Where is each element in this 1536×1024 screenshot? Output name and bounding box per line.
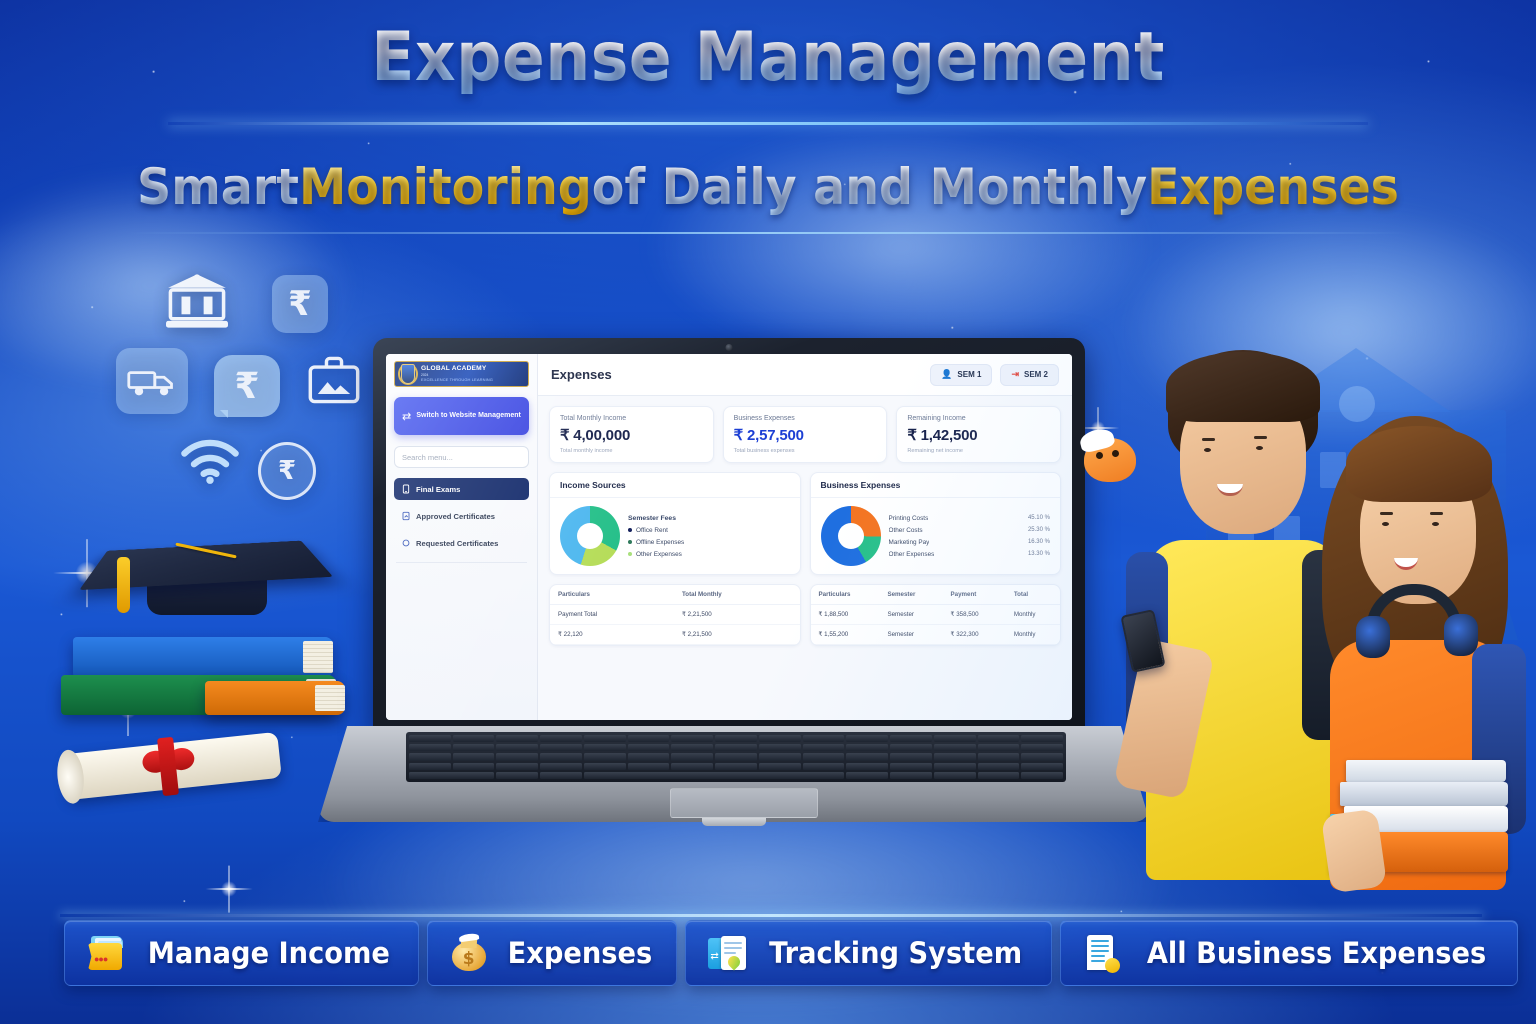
data-tables: Particulars Total Monthly Payment Total … [549,584,1061,646]
feature-bar: ●●● Manage Income $ Expenses ⇄ Tracking … [64,920,1478,986]
panel-income-sources: Income Sources Semester Fees Office Rent [549,472,801,575]
subtitle-part-2: Monitoring [299,158,592,216]
stat-note: Total business expenses [734,448,877,454]
table-cell: ₹ 322,300 [943,625,1006,645]
scroll-end [55,749,87,805]
legend-item: Offline Expenses [628,539,790,546]
search-input[interactable]: Search menu... [394,446,529,468]
income-table: Particulars Total Monthly Payment Total … [549,584,801,646]
laptop-screen: GLOBAL ACADEMY 2024 EXCELLENCE THROUGH L… [386,354,1072,720]
certificate-icon [401,512,410,521]
laptop-foot [702,818,766,826]
legend-item: Other Expenses 13.30 % [889,551,1051,558]
table-cell: ₹ 22,120 [550,625,674,645]
feature-label: Expenses [507,936,652,970]
legend-item: Marketing Pay 16.30 % [889,539,1051,546]
table-cell: ₹ 1,55,200 [811,625,880,645]
stat-label: Business Expenses [734,415,877,422]
chart-panels: Income Sources Semester Fees Office Rent [549,472,1061,575]
dashboard-sidebar: GLOBAL ACADEMY 2024 EXCELLENCE THROUGH L… [386,354,538,720]
stat-label: Total Monthly Income [560,415,703,422]
subtitle-divider [128,232,1408,234]
table-row[interactable]: ₹ 1,55,200 Semester ₹ 322,300 Monthly [811,625,1061,645]
table-cell: ₹ 2,21,500 [674,605,800,625]
feature-label: All Business Expenses [1146,936,1485,970]
laptop-lid: GLOBAL ACADEMY 2024 EXCELLENCE THROUGH L… [373,338,1085,733]
legend-label: Offline Expenses [636,539,684,546]
income-sources-legend: Semester Fees Office Rent Offline Expens… [628,515,790,558]
sidebar-item-requested-certificates[interactable]: Requested Certificates [394,532,529,554]
webcam-icon [726,344,733,351]
stat-card-business-expenses: Business Expenses ₹ 2,57,500 Total busin… [723,406,888,463]
dashboard-topbar: Expenses 👤 SEM 1 ⇥ SEM 2 [538,354,1072,396]
table-cell: ₹ 358,500 [943,605,1006,625]
table-header-cell: Particulars [811,585,880,605]
legend-heading: Semester Fees [628,515,790,522]
sidebar-item-label: Approved Certificates [416,512,495,521]
feature-all-business-expenses[interactable]: All Business Expenses [1060,920,1518,986]
user-icon: 👤 [941,370,952,379]
table-cell: ₹ 2,21,500 [674,625,800,645]
sem-2-chip[interactable]: ⇥ SEM 2 [1000,364,1059,386]
legend-item: Other Costs 25.30 % [889,527,1051,534]
sidebar-divider [396,562,527,563]
dashboard-content: Total Monthly Income ₹ 4,00,000 Total mo… [538,396,1072,656]
laptop-trackpad [670,788,818,818]
subtitle-part-1: Smart [137,158,299,216]
table-cell: Monthly [1006,605,1060,625]
panel-title: Business Expenses [811,473,1061,498]
table-header-row: Particulars Total Monthly [550,585,800,605]
bank-building-icon [160,270,234,332]
sidebar-item-label: Final Exams [416,485,460,494]
table-row[interactable]: ₹ 22,120 ₹ 2,21,500 [550,625,800,645]
title-divider [168,122,1368,125]
logo-tagline: EXCELLENCE THROUGH LEARNING [421,378,493,382]
table-header-cell: Particulars [550,585,674,605]
book-blue [73,637,333,677]
crest-icon [398,363,418,385]
search-placeholder: Search menu... [402,453,453,462]
table-header-cell: Total [1006,585,1060,605]
table-row[interactable]: ₹ 1,88,500 Semester ₹ 358,500 Monthly [811,605,1061,625]
legend-label: Printing Costs [889,515,929,522]
sem-1-label: SEM 1 [957,370,981,379]
subtitle-part-3: of Daily and Monthly [592,158,1147,216]
feature-manage-income[interactable]: ●●● Manage Income [64,920,419,986]
panel-title: Income Sources [550,473,800,498]
feature-label: Manage Income [148,936,390,970]
table-cell: Semester [879,605,942,625]
legend-label: Other Costs [889,527,923,534]
legend-value: 25.30 % [1028,527,1050,533]
swap-icon: ⇄ [402,410,411,423]
money-bag-icon: $ [448,932,490,974]
feature-expenses[interactable]: $ Expenses [427,920,678,986]
rupee-note-circle-icon: ₹ [258,442,316,500]
legend-item: Printing Costs 45.10 % [889,515,1051,522]
table-header-cell: Payment [943,585,1006,605]
table-cell: ₹ 1,88,500 [811,605,880,625]
table-header-row: Particulars Semester Payment Total [811,585,1061,605]
table-cell: Semester [879,625,942,645]
logout-icon: ⇥ [1011,370,1019,379]
legend-dot [628,528,632,532]
legend-dot [628,540,632,544]
table-header-cell: Total Monthly [674,585,800,605]
delivery-truck-icon [116,348,188,414]
page-title: Expense Management [54,18,1482,97]
business-expenses-donut-chart [821,506,881,566]
sidebar-item-final-exams[interactable]: Final Exams [394,478,529,500]
legend-label: Other Expenses [889,551,935,558]
dashboard-page-title: Expenses [551,367,612,382]
legend-value: 16.30 % [1028,539,1050,545]
rupee-chat-bubble-icon: ₹ [214,355,280,417]
sidebar-item-approved-certificates[interactable]: Approved Certificates [394,505,529,527]
panel-body: Semester Fees Office Rent Offline Expens… [550,498,800,574]
stat-note: Total monthly income [560,448,703,454]
switch-button-label: Switch to Website Management [416,411,521,420]
diploma-scroll [63,732,282,800]
feature-tracking-system[interactable]: ⇄ Tracking System [685,920,1051,986]
income-sources-donut-chart [560,506,620,566]
legend-dot [628,552,632,556]
stat-value: ₹ 2,57,500 [734,426,877,444]
tassel-drop [117,557,130,613]
table-row[interactable]: Payment Total ₹ 2,21,500 [550,605,800,625]
legend-item: Office Rent [628,527,790,534]
laptop-keyboard [406,732,1066,782]
cloud-center [640,120,1160,350]
logo-name: GLOBAL ACADEMY [421,366,493,373]
feature-label: Tracking System [769,936,1022,970]
laptop: GLOBAL ACADEMY 2024 EXCELLENCE THROUGH L… [318,338,1150,868]
stat-card-total-monthly-income: Total Monthly Income ₹ 4,00,000 Total mo… [549,406,714,463]
dashboard-main: Expenses 👤 SEM 1 ⇥ SEM 2 [538,354,1072,720]
stat-value: ₹ 1,42,500 [907,426,1050,444]
receipt-icon [1081,932,1123,974]
rupee-square-icon: ₹ [272,275,328,333]
stat-label: Remaining Income [907,415,1050,422]
hero-title-block: Expense Management [0,18,1536,97]
document-icon [401,485,410,494]
panel-business-expenses: Business Expenses Printing Costs 45.10 % [810,472,1062,575]
table-cell: Payment Total [550,605,674,625]
stat-note: Remaining net income [907,448,1050,454]
academy-logo[interactable]: GLOBAL ACADEMY 2024 EXCELLENCE THROUGH L… [394,361,529,387]
income-folder-icon: ●●● [85,932,127,974]
sem-1-chip[interactable]: 👤 SEM 1 [930,364,992,386]
topbar-actions: 👤 SEM 1 ⇥ SEM 2 [930,364,1059,386]
tracking-card-icon: ⇄ [706,932,748,974]
stat-value: ₹ 4,00,000 [560,426,703,444]
hero-subtitle: Smart Monitoring of Daily and Monthly Ex… [38,158,1497,216]
expenses-table: Particulars Semester Payment Total ₹ 1,8… [810,584,1062,646]
table-header-cell: Semester [879,585,942,605]
switch-to-website-management-button[interactable]: ⇄ Switch to Website Management [394,397,529,435]
business-expenses-legend: Printing Costs 45.10 % Other Costs 25.30… [889,515,1051,558]
logo-est: 2024 [421,374,493,377]
sem-2-label: SEM 2 [1024,370,1048,379]
sidebar-item-label: Requested Certificates [416,539,498,548]
legend-label: Office Rent [636,527,668,534]
table-cell: Monthly [1006,625,1060,645]
request-icon [401,539,410,548]
stat-cards: Total Monthly Income ₹ 4,00,000 Total mo… [549,406,1061,463]
legend-item: Other Expenses [628,551,790,558]
panel-body: Printing Costs 45.10 % Other Costs 25.30… [811,498,1061,574]
wifi-icon [178,437,242,487]
legend-label: Marketing Pay [889,539,930,546]
stat-card-remaining-income: Remaining Income ₹ 1,42,500 Remaining ne… [896,406,1061,463]
legend-label: Other Expenses [636,551,682,558]
subtitle-part-4: Expenses [1147,158,1399,216]
ribbon-band [157,737,179,796]
legend-value: 13.30 % [1028,551,1050,557]
legend-value: 45.10 % [1028,515,1050,521]
